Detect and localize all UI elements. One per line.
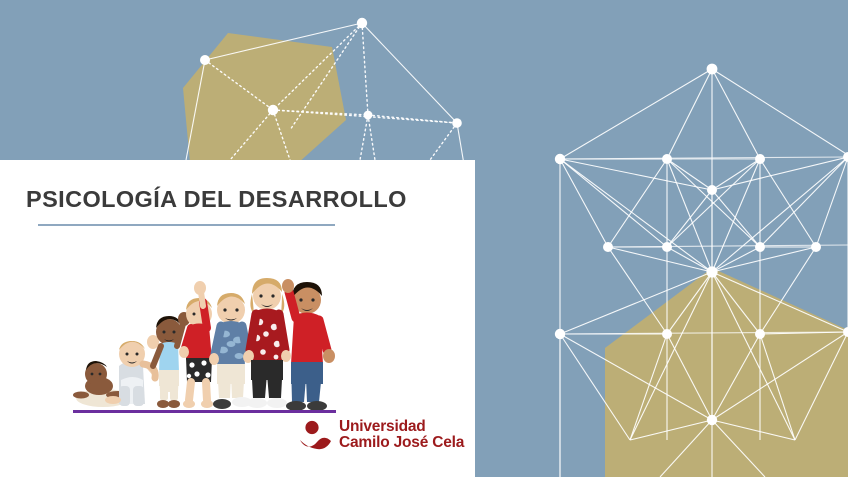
logo-line-2: Camilo José Cela	[339, 435, 464, 451]
child-figure-4	[179, 281, 213, 408]
photo-baseline-rule	[73, 410, 336, 413]
page-title: PSICOLOGÍA DEL DESARROLLO	[26, 186, 407, 213]
child-figure-7	[282, 279, 335, 411]
person-swoosh-logo-mark	[299, 418, 333, 452]
presentation-slide: .ln { stroke:#ffffff; stroke-width:1.1; …	[0, 0, 848, 477]
title-underline-rule	[38, 224, 335, 226]
child-figure-6	[244, 278, 291, 408]
bottom-right-pentagon-shape	[605, 268, 848, 477]
university-logo: Universidad Camilo José Cela	[299, 418, 464, 452]
child-figure-3	[153, 312, 190, 408]
logo-line-1: Universidad	[339, 419, 464, 435]
top-left-hexagon-shape	[183, 33, 346, 172]
university-logo-text: Universidad Camilo José Cela	[339, 419, 464, 451]
children-development-photo: .sk1 { fill:#8a5a3c; } .sk2 { fill:#e8c0…	[73, 262, 336, 412]
